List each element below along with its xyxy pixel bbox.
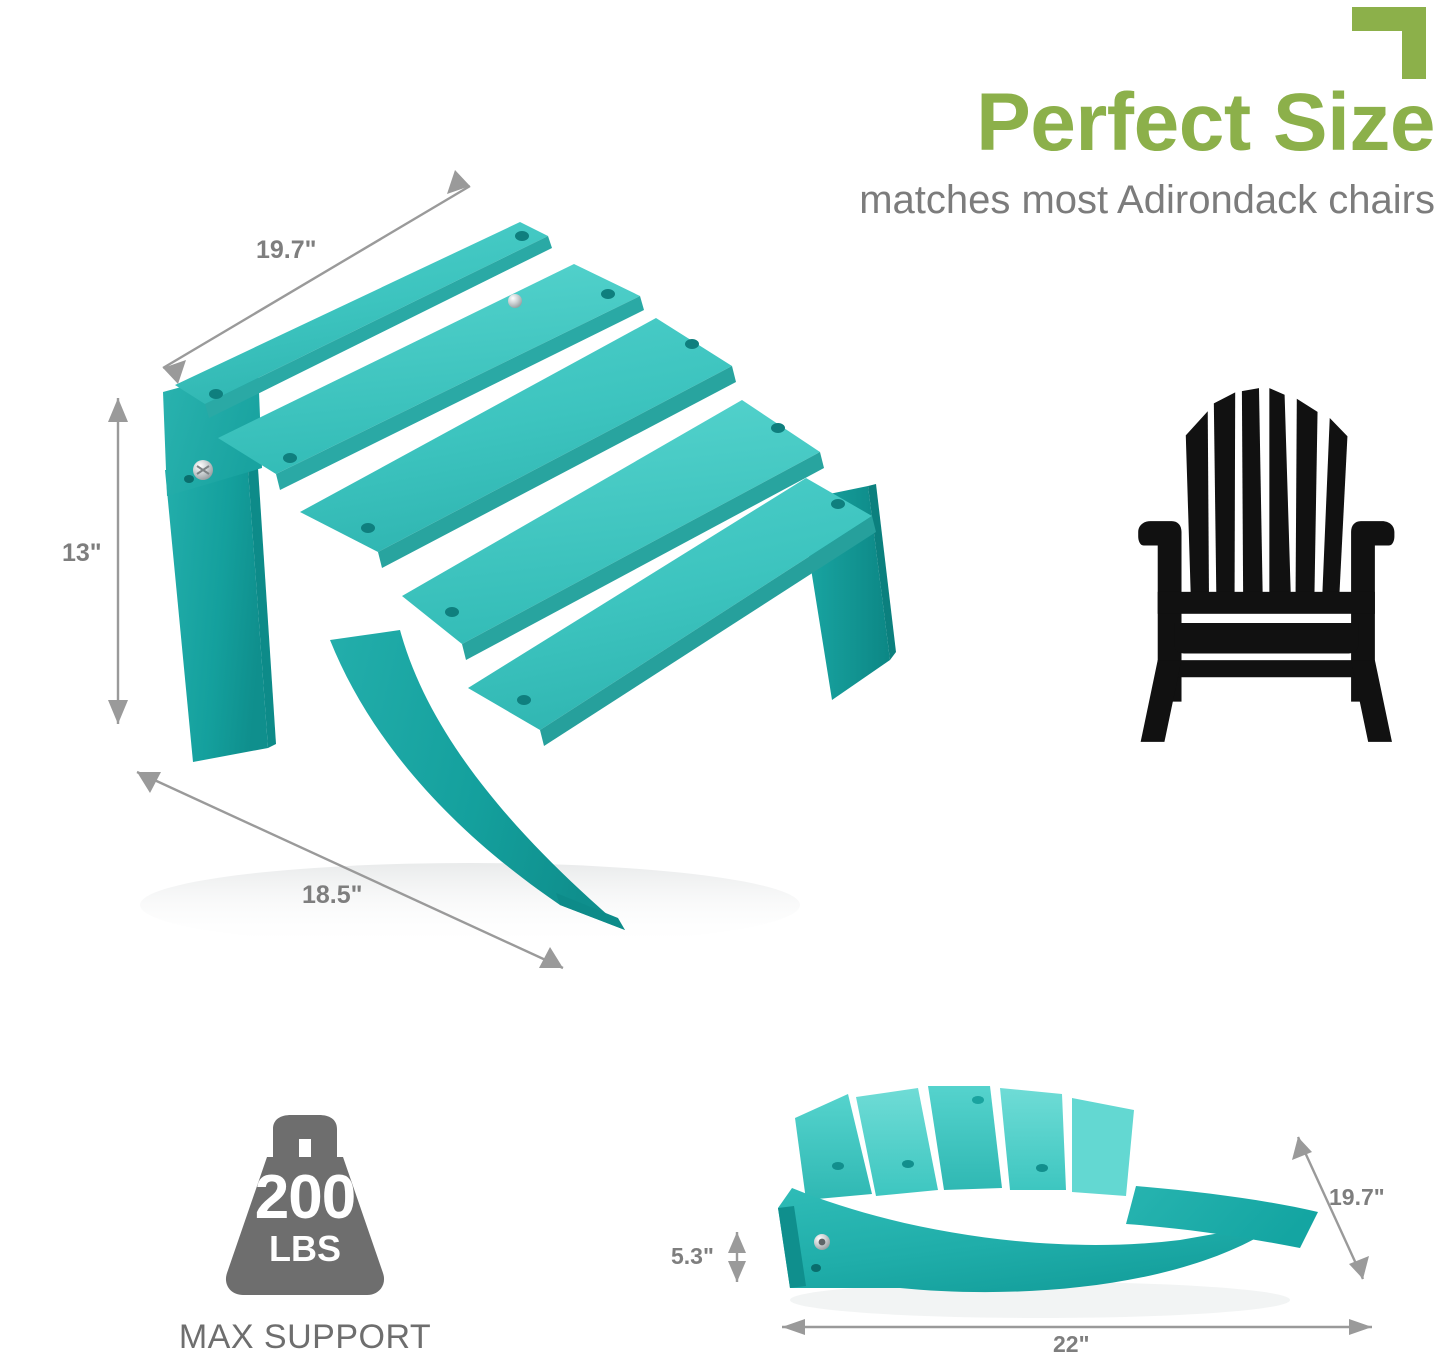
folded-slat-group [795,1086,1134,1200]
dimension-arrows-main [118,186,563,968]
max-support-badge: 200 LBS MAX SUPPORT [155,1115,455,1357]
dim-label-folded-length-22: 22" [1053,1331,1090,1358]
ottoman-side-rail-left [163,366,262,496]
dimension-arrows-folded [737,1137,1372,1327]
dimension-arrowheads-folded [728,1137,1372,1335]
weight-kettlebell-icon: 200 LBS [205,1115,405,1300]
max-support-unit: LBS [205,1231,405,1267]
ottoman-leg-rear-right [800,484,896,700]
dimension-arrowheads-main [108,170,563,968]
dim-label-width-19-7: 19.7" [256,236,317,265]
corner-bracket-icon [1352,7,1426,79]
folded-body-and-leg [778,1186,1318,1292]
ottoman-slat-3 [300,318,736,568]
page-subtitle: matches most Adirondack chairs [690,178,1435,222]
dim-label-depth-18-5: 18.5" [302,881,363,910]
ottoman-leg-rear-left [165,468,276,762]
ottoman-leg-front-curved [330,630,625,930]
ottoman-slat-4 [402,400,824,660]
max-support-value: 200 [205,1167,405,1229]
adirondack-chair-silhouette [1138,388,1394,742]
ottoman-slat-1 [175,222,552,418]
headline-block: Perfect Size matches most Adirondack cha… [690,82,1435,222]
page-title: Perfect Size [690,82,1435,164]
ottoman-slat-5 [468,478,876,746]
max-support-caption: MAX SUPPORT [155,1318,455,1357]
dim-label-folded-depth-19-7: 19.7" [1329,1184,1385,1211]
dim-label-height-13: 13" [62,539,102,568]
dim-label-folded-height-5-3: 5.3" [671,1243,714,1270]
ottoman-slat-2 [218,264,644,490]
infographic-canvas: Perfect Size matches most Adirondack cha… [0,0,1445,1363]
